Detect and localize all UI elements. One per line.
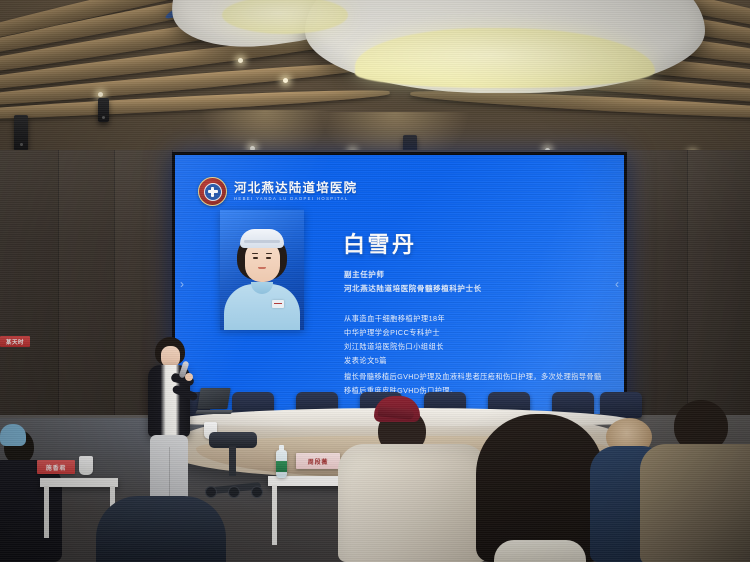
name-badge-icon <box>272 300 284 308</box>
side-table <box>40 478 118 487</box>
water-bottle <box>276 450 287 478</box>
ceiling <box>0 0 750 170</box>
wall-sign: 某天时 <box>0 336 30 347</box>
hospital-logo: 河北燕达陆道培医院 HEBEI YANDA LU DAOPEI HOSPITAL <box>198 177 357 206</box>
attendee-long-hair <box>470 414 610 562</box>
attendee-body <box>96 496 226 562</box>
ceiling-spotlight <box>238 58 243 63</box>
name-placard: 周段薇 <box>296 453 340 469</box>
laptop-screen <box>197 388 230 409</box>
speaker-credentials: 从事造血干细胞移植护理18年 中华护理学会PICC专科护士 刘江陆道培医院伤口小… <box>344 312 445 368</box>
hospital-crest-icon <box>198 177 227 206</box>
puffer-jacket <box>338 444 488 562</box>
speaker-title-line: 副主任护师 <box>344 268 482 282</box>
speaker-titles: 副主任护师 河北燕达陆道培医院骨髓移植科护士长 <box>344 268 482 297</box>
hospital-name-cn: 河北燕达陆道培医院 <box>234 182 357 195</box>
ceiling-spotlight <box>98 92 103 97</box>
attendee-far-right <box>648 400 750 562</box>
speaker-portrait <box>220 210 304 330</box>
name-placard: 施香君 <box>37 460 75 474</box>
slide-surface[interactable]: 河北燕达陆道培医院 HEBEI YANDA LU DAOPEI HOSPITAL… <box>175 155 624 414</box>
table-leg <box>272 485 277 545</box>
attendee-collar <box>494 540 586 562</box>
credential-item: 发表论文5篇 <box>344 354 445 368</box>
attendee-body <box>640 444 750 562</box>
chevron-right-icon[interactable]: ‹ <box>615 278 619 290</box>
ceiling-speaker <box>98 98 109 122</box>
speaker-name: 白雪丹 <box>343 227 417 259</box>
presenter-hand <box>185 373 193 381</box>
office-chair[interactable] <box>205 432 261 498</box>
credential-item: 刘江陆道培医院伤口小组组长 <box>344 340 445 354</box>
laptop-base <box>195 410 233 414</box>
attendee-body <box>0 460 62 562</box>
portrait-uniform <box>224 284 300 330</box>
ceiling-spotlight <box>283 78 288 83</box>
presenter <box>138 337 200 519</box>
wall-panel <box>0 150 59 450</box>
table-leg <box>44 486 49 538</box>
presenter-laptop[interactable] <box>196 388 230 414</box>
attendee-cap <box>0 424 26 446</box>
credential-item: 中华护理学会PICC专科护士 <box>344 326 445 340</box>
chevron-left-icon[interactable]: › <box>180 278 184 290</box>
credential-item: 从事造血干细胞移植护理18年 <box>344 312 445 326</box>
speaker-title-line: 河北燕达陆道培医院骨髓移植科护士长 <box>344 282 482 296</box>
medical-cross-icon <box>208 187 218 197</box>
ceiling-speaker <box>14 115 28 151</box>
paper-cup <box>79 456 93 475</box>
nurse-cap-icon <box>240 229 284 248</box>
conference-hall-photo: 某天时 培 河北燕达陆道培医院 HEBEI YANDA LU DAOPEI HO… <box>0 0 750 562</box>
hospital-name-en: HEBEI YANDA LU DAOPEI HOSPITAL <box>234 197 357 201</box>
wall-panel <box>58 150 115 450</box>
led-presentation-screen[interactable]: 河北燕达陆道培医院 HEBEI YANDA LU DAOPEI HOSPITAL… <box>172 152 627 417</box>
attendee-bottom-left <box>96 496 226 562</box>
attendee-left <box>0 430 64 562</box>
